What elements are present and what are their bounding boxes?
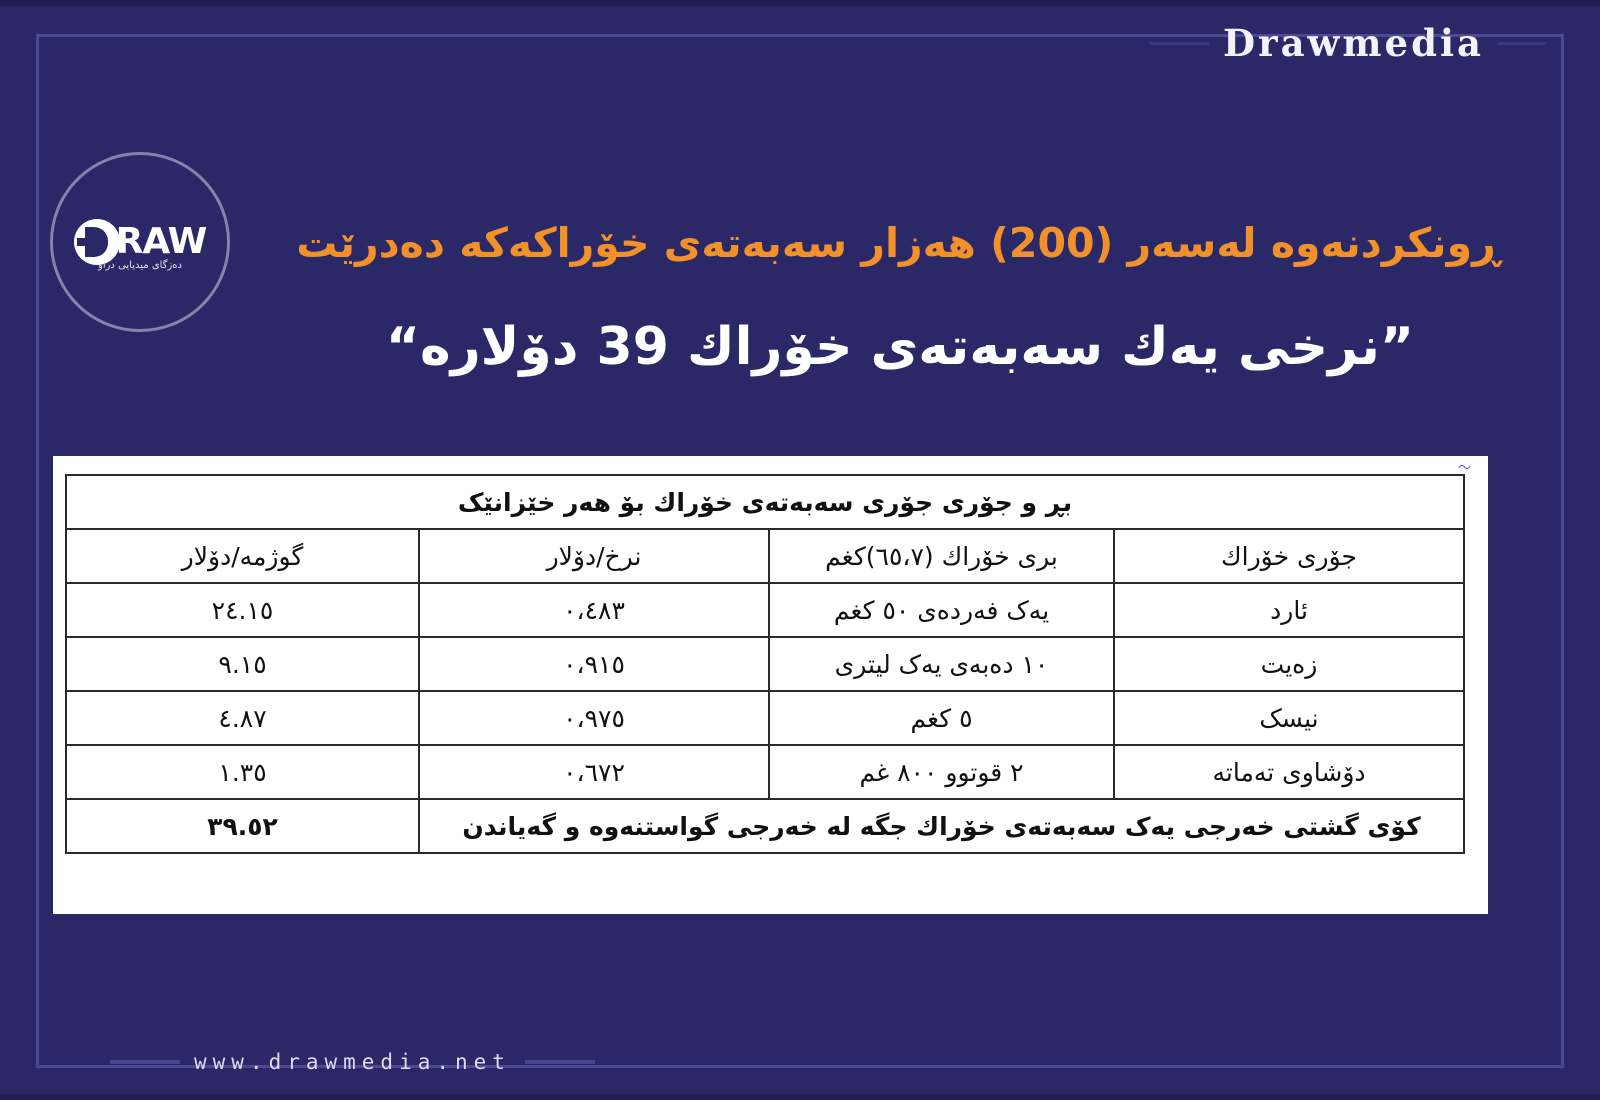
cell-qty: ١٠ دەبەی یەک لیتری: [769, 637, 1114, 691]
cell-type: نیسک: [1114, 691, 1464, 745]
column-header-qty: بری خۆراك (٦٥،٧)کغم: [769, 529, 1114, 583]
cell-price: ٠،٤٨٣: [419, 583, 769, 637]
logo: RAW دەزگای میدیایی دراو: [50, 152, 230, 332]
table-row: ئارد یەک فەردەی ٥٠ کغم ٠،٤٨٣ ٢٤.١٥: [66, 583, 1464, 637]
column-header-sum: گوژمە/دۆلار: [66, 529, 419, 583]
cell-type: زەیت: [1114, 637, 1464, 691]
table-header-row: جۆری خۆراك بری خۆراك (٦٥،٧)کغم نرخ/دۆلار…: [66, 529, 1464, 583]
table-row: دۆشاوی تەماتە ٢ قوتوو ٨٠٠ غم ٠،٦٧٢ ١.٣٥: [66, 745, 1464, 799]
total-label: کۆی گشتی خەرجی یەک سەبەتەی خۆراك جگە لە …: [419, 799, 1464, 853]
footer-rule-right: [525, 1060, 595, 1064]
table-total-row: کۆی گشتی خەرجی یەک سەبەتەی خۆراك جگە لە …: [66, 799, 1464, 853]
cell-qty: یەک فەردەی ٥٠ کغم: [769, 583, 1114, 637]
top-edge-band: [0, 0, 1600, 6]
cell-sum: ٤.٨٧: [66, 691, 419, 745]
footer: www.drawmedia.net: [0, 1042, 1600, 1082]
cell-qty: ٢ قوتوو ٨٠٠ غم: [769, 745, 1114, 799]
food-basket-table: بڕ و جۆری جۆری سەبەتەی خۆراك بۆ هەر خێزا…: [65, 474, 1465, 854]
brand-name: Drawmedia: [1223, 21, 1484, 65]
footer-rule-left: [110, 1060, 180, 1064]
total-value: ٣٩.٥٢: [66, 799, 419, 853]
cell-qty: ٥ کغم: [769, 691, 1114, 745]
website-url: www.drawmedia.net: [194, 1050, 511, 1074]
cell-price: ٠،٩٧٥: [419, 691, 769, 745]
table-card: 〜 بڕ و جۆری جۆری سەبەتەی خۆراك بۆ هەر خێ…: [53, 456, 1488, 914]
column-header-price: نرخ/دۆلار: [419, 529, 769, 583]
table-caption-row: بڕ و جۆری جۆری سەبەتەی خۆراك بۆ هەر خێزا…: [66, 475, 1464, 529]
cell-sum: ٩.١٥: [66, 637, 419, 691]
cell-price: ٠،٦٧٢: [419, 745, 769, 799]
cell-sum: ٢٤.١٥: [66, 583, 419, 637]
column-header-type: جۆری خۆراك: [1114, 529, 1464, 583]
brand-rule-right: [1498, 42, 1546, 45]
headline: ڕونکردنەوە لەسەر (200) هەزار سەبەتەی خۆر…: [320, 218, 1500, 269]
logo-subtitle: دەزگای میدیایی دراو: [50, 260, 230, 271]
logo-d-mark-icon: [74, 219, 120, 265]
infographic-canvas: Drawmedia RAW دەزگای میدیایی دراو ڕونکرد…: [0, 0, 1600, 1100]
table-row: زەیت ١٠ دەبەی یەک لیتری ٠،٩١٥ ٩.١٥: [66, 637, 1464, 691]
cell-type: دۆشاوی تەماتە: [1114, 745, 1464, 799]
bottom-edge-band: [0, 1094, 1600, 1100]
cell-price: ٠،٩١٥: [419, 637, 769, 691]
table-caption: بڕ و جۆری جۆری سەبەتەی خۆراك بۆ هەر خێزا…: [66, 475, 1464, 529]
table-row: نیسک ٥ کغم ٠،٩٧٥ ٤.٨٧: [66, 691, 1464, 745]
brand-rule-left: [1149, 42, 1209, 45]
brand-header: Drawmedia: [0, 14, 1600, 72]
subheadline-quote: ”نرخی یەك سەبەتەی خۆراك 39 دۆلارە“: [320, 315, 1480, 380]
cell-type: ئارد: [1114, 583, 1464, 637]
logo-wordmark: RAW: [116, 224, 207, 260]
cell-sum: ١.٣٥: [66, 745, 419, 799]
